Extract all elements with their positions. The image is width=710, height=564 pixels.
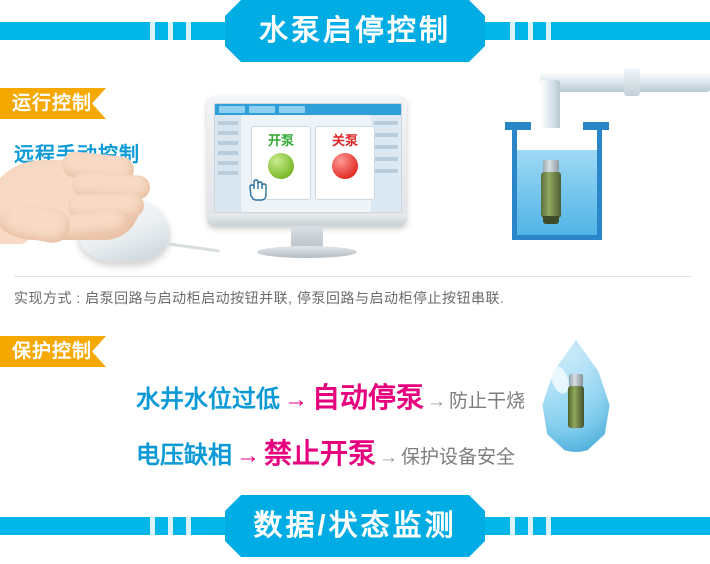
protection-result: 保护设备安全 (401, 447, 515, 468)
protection-result: 防止干烧 (449, 391, 525, 412)
hand-icon (0, 150, 190, 270)
ribbon-protection-control: 保护控制 (0, 336, 106, 367)
protection-condition: 电压缺相 (136, 442, 232, 469)
screen-left-panel (215, 115, 241, 212)
screen-menu-row (218, 131, 238, 135)
banner-tick (510, 517, 515, 535)
bottom-banner-plate: 数据/状态监测 (225, 495, 485, 557)
arrow-icon: → (284, 386, 308, 413)
screen-menu-row (218, 171, 238, 175)
monitor-icon: 开泵 关泵 (207, 96, 407, 261)
screen-menu-row (218, 151, 238, 155)
monitor-chin (207, 214, 407, 226)
screen-menu-row (218, 121, 238, 125)
drop-pump-body (568, 386, 584, 428)
screen-status-row (374, 157, 398, 161)
arrow-secondary-icon: → (379, 447, 398, 468)
protection-row: 电压缺相→禁止开泵→保护设备安全 (136, 432, 515, 472)
implementation-note: 实现方式 : 启泵回路与启动柜启动按钮并联, 停泵回路与启动柜停止按钮串联. (14, 288, 694, 308)
pump-stop-knob[interactable] (332, 153, 358, 179)
monitor-base (257, 246, 357, 258)
banner-tick (150, 22, 155, 40)
screen-menu-row (218, 161, 238, 165)
hand-cursor-icon (245, 176, 267, 202)
banner-tick (168, 517, 173, 535)
discharge-pipe-horizontal (600, 72, 710, 92)
arrow-icon: → (236, 442, 260, 469)
top-banner-title: 水泵启停控制 (225, 0, 485, 62)
protection-action: 禁止开泵 (264, 438, 376, 469)
arrow-secondary-icon: → (427, 391, 446, 412)
banner-tick (528, 22, 533, 40)
pump-foot (543, 216, 559, 224)
pipe-collar (624, 68, 640, 96)
note-divider (14, 276, 692, 277)
banner-tick (528, 517, 533, 535)
water-drop-with-pump-icon (530, 340, 622, 460)
screen-status-row (374, 121, 398, 125)
pump-start-knob[interactable] (268, 153, 294, 179)
screen-tab (279, 106, 305, 113)
screen-menu-row (218, 141, 238, 145)
screen-status-row (374, 169, 398, 173)
submersible-pump-body (541, 172, 561, 218)
protection-condition: 水井水位过低 (136, 386, 280, 413)
ribbon-protection-control-label: 保护控制 (12, 341, 92, 362)
pump-stop-panel[interactable]: 关泵 (315, 126, 375, 200)
screen-right-panel (371, 115, 401, 212)
monitor-screen: 开泵 关泵 (214, 103, 402, 213)
banner-tick (546, 22, 551, 40)
banner-tick (168, 22, 173, 40)
well-cap-right (583, 122, 609, 130)
ribbon-run-control: 运行控制 (0, 88, 106, 119)
banner-tick (186, 517, 191, 535)
infographic-root: 水泵启停控制 运行控制 远程手动控制 (0, 0, 710, 564)
banner-tick (546, 517, 551, 535)
screen-tab (249, 106, 275, 113)
banner-tick (150, 517, 155, 535)
banner-tick (510, 22, 515, 40)
banner-tick (186, 22, 191, 40)
screen-status-row (374, 145, 398, 149)
protection-action: 自动停泵 (312, 382, 424, 413)
protection-row: 水井水位过低→自动停泵→防止干烧 (136, 376, 525, 416)
pump-stop-label: 关泵 (316, 130, 374, 149)
pump-start-label: 开泵 (252, 130, 310, 149)
ribbon-run-control-label: 运行控制 (12, 93, 92, 114)
bottom-banner: 数据/状态监测 (0, 495, 710, 557)
top-banner-plate: 水泵启停控制 (225, 0, 485, 62)
top-banner: 水泵启停控制 (0, 0, 710, 62)
screen-tab (219, 106, 245, 113)
screen-status-row (374, 133, 398, 137)
bottom-banner-title: 数据/状态监测 (225, 495, 485, 557)
well-cap-left (505, 122, 531, 130)
